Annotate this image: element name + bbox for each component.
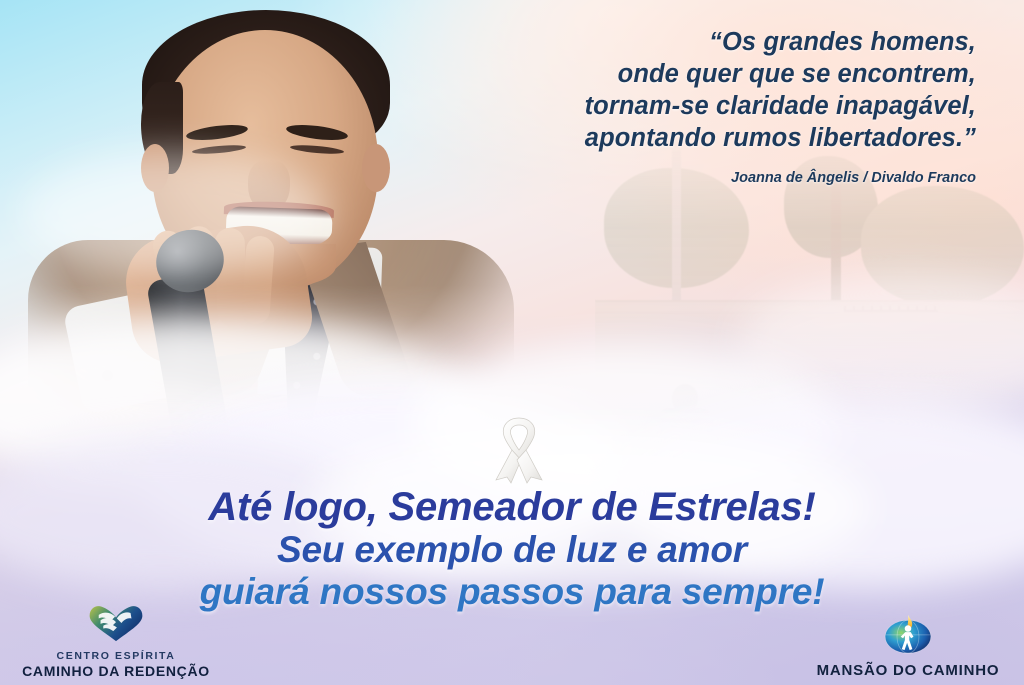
- foliage-shape: [861, 186, 1024, 306]
- logo-left-line-2: CAMINHO DA REDENÇÃO: [8, 663, 224, 679]
- memorial-poster: “Os grandes homens, onde quer que se enc…: [0, 0, 1024, 685]
- white-ribbon-icon: [488, 412, 550, 484]
- globe-figure-flame-icon: [800, 613, 1016, 660]
- heart-hands-icon: [8, 603, 224, 648]
- headline-line-2: Seu exemplo de luz e amor: [0, 530, 1024, 569]
- logo-centro-espirita[interactable]: CENTRO ESPÍRITA CAMINHO DA REDENÇÃO: [8, 603, 224, 679]
- quote-text: “Os grandes homens, onde quer que se enc…: [386, 26, 976, 154]
- logo-left-line-1: CENTRO ESPÍRITA: [8, 650, 224, 663]
- logo-mansao-do-caminho[interactable]: MANSÃO DO CAMINHO: [800, 613, 1016, 679]
- headline-line-1: Até logo, Semeador de Estrelas!: [0, 486, 1024, 528]
- logo-right-line-1: MANSÃO DO CAMINHO: [800, 662, 1016, 679]
- quote-attribution: Joanna de Ângelis / Divaldo Franco: [386, 170, 976, 186]
- quote-line-3: tornam-se claridade inapagável,: [386, 90, 976, 122]
- headline-message: Até logo, Semeador de Estrelas! Seu exem…: [0, 486, 1024, 611]
- tree-trunk: [831, 174, 841, 306]
- quote-line-2: onde quer que se encontrem,: [386, 58, 976, 90]
- ear-left: [141, 144, 169, 192]
- quote-line-1: “Os grandes homens,: [386, 26, 976, 58]
- quote-line-4: apontando rumos libertadores.”: [386, 122, 976, 154]
